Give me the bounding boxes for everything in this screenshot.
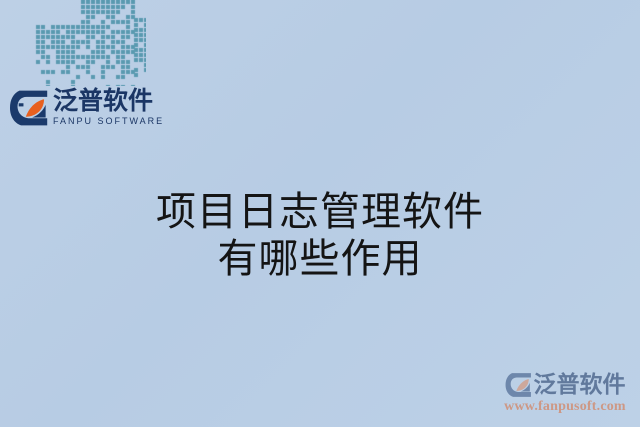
pixel-city-decoration — [26, 0, 146, 86]
brand-name-en: FANPU SOFTWARE — [53, 115, 164, 128]
pixel-city-canvas — [26, 0, 146, 86]
headline: 项目日志管理软件 有哪些作用 — [0, 188, 640, 282]
watermark-name-cn: 泛普软件 — [534, 372, 626, 397]
fanpu-logo-mark-icon — [9, 89, 49, 127]
watermark-url: www.fanpusoft.com — [504, 399, 626, 415]
watermark-logo-row: 泛普软件 — [505, 372, 626, 398]
watermark: 泛普软件 www.fanpusoft.com — [496, 365, 634, 421]
brand-name-cn: 泛普软件 — [53, 88, 164, 114]
fanpu-logo-mark-watermark-icon — [505, 372, 532, 398]
slide-canvas: 泛普软件 FANPU SOFTWARE 项目日志管理软件 有哪些作用 泛普软件 … — [0, 0, 640, 427]
headline-line-1: 项目日志管理软件 — [0, 188, 640, 235]
headline-line-2: 有哪些作用 — [0, 235, 640, 282]
brand-logo: 泛普软件 FANPU SOFTWARE — [9, 84, 159, 132]
brand-wordmark: 泛普软件 FANPU SOFTWARE — [53, 88, 164, 128]
